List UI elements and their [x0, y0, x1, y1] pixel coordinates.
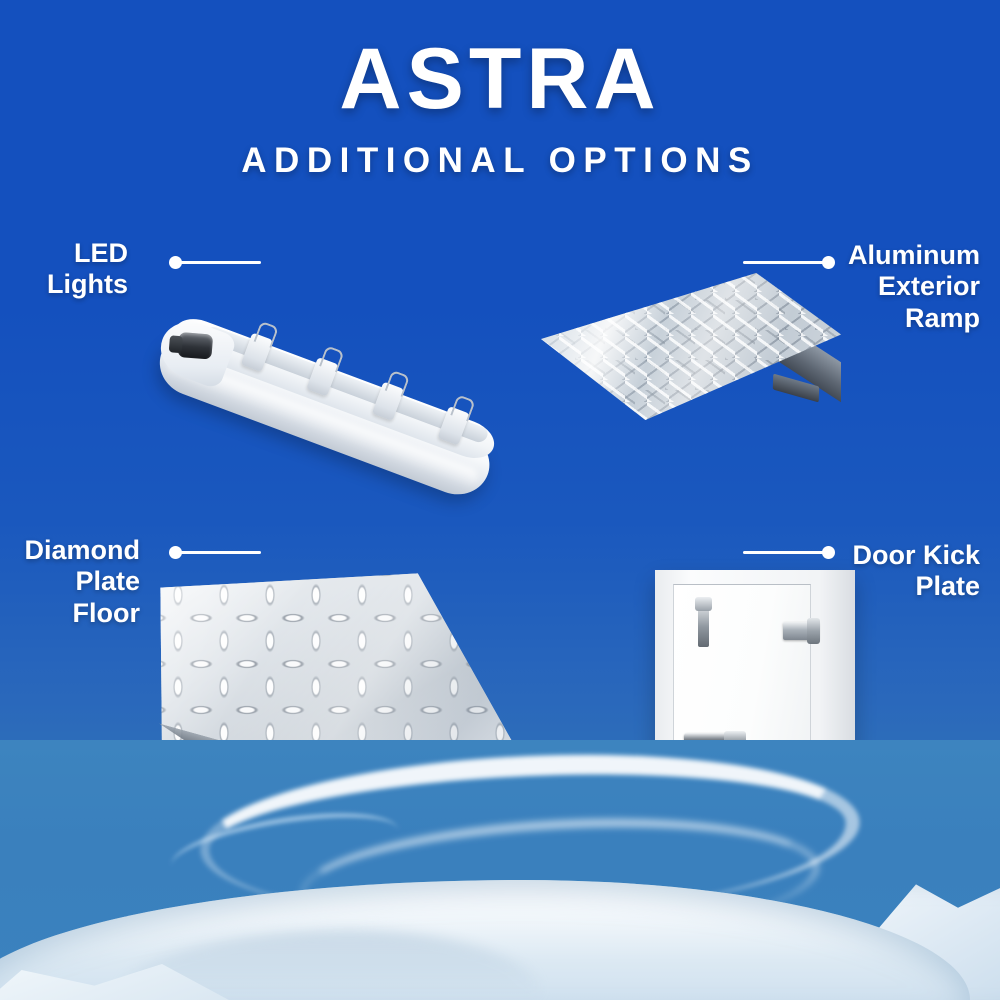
leader-bar: [179, 261, 261, 264]
callout-label-line: Floor: [0, 598, 140, 629]
product-led-light-fixture: [150, 268, 520, 443]
callout-label-line: LED: [0, 238, 128, 269]
callout-label-line: Plate: [0, 566, 140, 597]
callout-label-diamond-plate-floor: Diamond Plate Floor: [0, 535, 140, 629]
led-fixture-body-group: [145, 307, 508, 520]
leader-bar: [179, 551, 261, 554]
callout-label-line: Aluminum: [700, 240, 980, 271]
poster-canvas: ASTRA ADDITIONAL OPTIONS LED Lights Alum…: [0, 0, 1000, 1000]
callout-label-line: Lights: [0, 269, 128, 300]
leader-line-led-lights: [169, 255, 261, 269]
leader-line-diamond-plate-floor: [169, 545, 261, 559]
door-hinge-pin-top: [807, 618, 820, 644]
door-safety-release-icon: [698, 607, 709, 647]
callout-label-line: Diamond: [0, 535, 140, 566]
ramp-specular-sheen: [515, 270, 841, 420]
callout-label-led-lights: LED Lights: [0, 238, 128, 301]
page-title: ASTRA: [0, 36, 1000, 122]
ice-scene: [0, 740, 1000, 1000]
callout-label-line: Door Kick: [700, 540, 980, 571]
product-aluminum-ramp: [515, 270, 845, 430]
led-cable-gland: [177, 332, 213, 360]
page-subtitle: ADDITIONAL OPTIONS: [0, 143, 1000, 178]
